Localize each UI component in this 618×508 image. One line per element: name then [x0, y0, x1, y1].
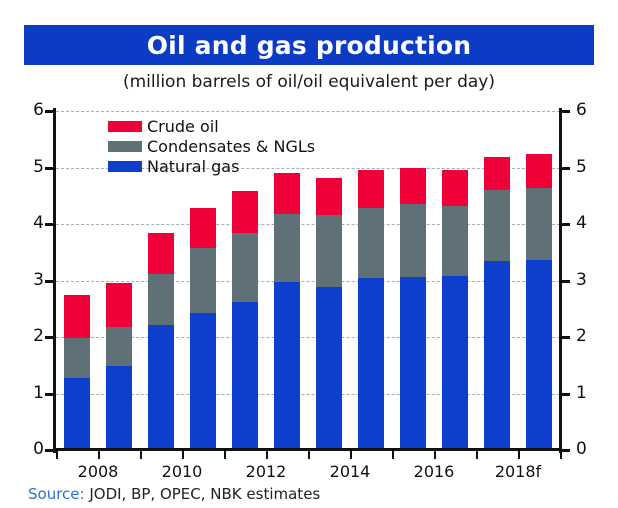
- bar-segment-crude: [64, 295, 90, 338]
- chart-title-banner: Oil and gas production: [24, 25, 594, 65]
- bar-segment-gas: [316, 287, 342, 450]
- bar-segment-crude: [190, 208, 216, 248]
- y-axis-tick-right: [562, 280, 570, 283]
- y-axis-label-left: 5: [26, 159, 44, 176]
- x-axis-tick: [182, 451, 184, 459]
- source-text: JODI, BP, OPEC, NBK estimates: [85, 485, 321, 503]
- bar-segment-crude: [316, 178, 342, 215]
- y-axis-tick-right: [562, 336, 570, 339]
- x-axis-tick: [224, 451, 226, 459]
- x-axis-tick: [560, 451, 562, 459]
- bar-segment-crude: [400, 168, 426, 205]
- bar-stack: [400, 111, 426, 450]
- bar-segment-ngl: [148, 274, 174, 325]
- legend-swatch-natural-gas: [108, 161, 142, 172]
- bar-segment-ngl: [358, 208, 384, 279]
- bar-segment-ngl: [316, 215, 342, 287]
- bar-segment-gas: [106, 366, 132, 450]
- x-axis-label: 2012: [246, 462, 287, 481]
- bar-stack: [64, 111, 90, 450]
- bar-segment-ngl: [232, 233, 258, 302]
- x-axis-label: 2016: [414, 462, 455, 481]
- bar-segment-ngl: [400, 204, 426, 276]
- bar-segment-ngl: [106, 327, 132, 367]
- y-axis-tick-left: [45, 336, 53, 339]
- bar-segment-ngl: [442, 206, 468, 276]
- bar-segment-gas: [400, 277, 426, 450]
- page-title: Oil and gas production: [147, 33, 472, 58]
- bar-segment-gas: [442, 276, 468, 450]
- legend-item-crude-oil: Crude oil: [108, 118, 315, 135]
- y-axis-label-left: 6: [26, 102, 44, 119]
- chart-container: Oil and gas production (million barrels …: [0, 0, 618, 508]
- x-axis-label: 2014: [330, 462, 371, 481]
- y-axis-tick-left: [45, 280, 53, 283]
- y-axis-label-right: 0: [576, 441, 594, 458]
- x-axis-tick: [434, 451, 436, 459]
- legend-label-crude-oil: Crude oil: [147, 119, 219, 135]
- bar-segment-ngl: [484, 190, 510, 261]
- y-axis-label-left: 3: [26, 272, 44, 289]
- x-axis-tick: [98, 451, 100, 459]
- y-axis-label-right: 6: [576, 102, 594, 119]
- y-axis-tick-left: [45, 393, 53, 396]
- y-axis-label-right: 4: [576, 215, 594, 232]
- y-axis-label-right: 1: [576, 385, 594, 402]
- bar-segment-crude: [358, 170, 384, 207]
- source-note: Source: JODI, BP, OPEC, NBK estimates: [28, 485, 320, 503]
- bar-segment-gas: [190, 313, 216, 450]
- y-axis-label-right: 5: [576, 159, 594, 176]
- legend-item-natural-gas: Natural gas: [108, 158, 315, 175]
- legend-label-condensates-ngls: Condensates & NGLs: [147, 139, 315, 155]
- y-axis-tick-right: [562, 393, 570, 396]
- chart-subtitle: (million barrels of oil/oil equivalent p…: [0, 72, 618, 92]
- y-axis-tick-right: [562, 110, 570, 113]
- bar-segment-crude: [274, 173, 300, 214]
- bar-segment-ngl: [64, 338, 90, 378]
- bar-stack: [316, 111, 342, 450]
- bar-segment-crude: [106, 283, 132, 327]
- x-axis-tick: [56, 451, 58, 459]
- y-axis-label-right: 3: [576, 272, 594, 289]
- x-axis-label: 2008: [78, 462, 119, 481]
- x-axis-tick: [266, 451, 268, 459]
- x-axis-tick: [140, 451, 142, 459]
- y-axis-tick-left: [45, 110, 53, 113]
- bar-segment-gas: [484, 261, 510, 450]
- x-axis-tick: [308, 451, 310, 459]
- bar-segment-crude: [232, 191, 258, 233]
- bar-segment-crude: [442, 170, 468, 206]
- y-axis-label-right: 2: [576, 328, 594, 345]
- y-axis-label-left: 4: [26, 215, 44, 232]
- y-axis-label-left: 1: [26, 385, 44, 402]
- bar-segment-crude: [484, 157, 510, 190]
- y-axis-tick-left: [45, 223, 53, 226]
- bar-segment-gas: [64, 378, 90, 450]
- x-axis-tick: [350, 451, 352, 459]
- x-axis-tick: [518, 451, 520, 459]
- bar-stack: [484, 111, 510, 450]
- bar-segment-gas: [526, 260, 552, 450]
- bar-stack: [358, 111, 384, 450]
- y-axis-tick-left: [45, 167, 53, 170]
- legend-swatch-condensates-ngls: [108, 141, 142, 152]
- bar-segment-ngl: [526, 188, 552, 260]
- y-axis-tick-right: [562, 167, 570, 170]
- bar-segment-crude: [526, 154, 552, 188]
- bar-segment-gas: [358, 278, 384, 450]
- legend-swatch-crude-oil: [108, 121, 142, 132]
- x-axis-label: 2010: [162, 462, 203, 481]
- bar-segment-gas: [274, 282, 300, 450]
- bar-stack: [526, 111, 552, 450]
- y-axis-left: [53, 108, 56, 453]
- x-axis-tick: [392, 451, 394, 459]
- y-axis-tick-right: [562, 223, 570, 226]
- legend-item-condensates-ngls: Condensates & NGLs: [108, 138, 315, 155]
- bar-segment-gas: [232, 302, 258, 450]
- legend-label-natural-gas: Natural gas: [147, 159, 239, 175]
- chart-legend: Crude oil Condensates & NGLs Natural gas: [108, 118, 315, 178]
- x-axis-tick: [476, 451, 478, 459]
- y-axis-label-left: 0: [26, 441, 44, 458]
- bar-segment-crude: [148, 233, 174, 275]
- bar-stack: [442, 111, 468, 450]
- bar-segment-gas: [148, 325, 174, 450]
- y-axis-label-left: 2: [26, 328, 44, 345]
- x-axis-label: 2018f: [495, 462, 541, 481]
- bar-segment-ngl: [274, 214, 300, 282]
- source-prefix: Source:: [28, 485, 85, 503]
- y-axis-tick-right: [562, 449, 570, 452]
- bar-segment-ngl: [190, 248, 216, 314]
- y-axis-tick-left: [45, 449, 53, 452]
